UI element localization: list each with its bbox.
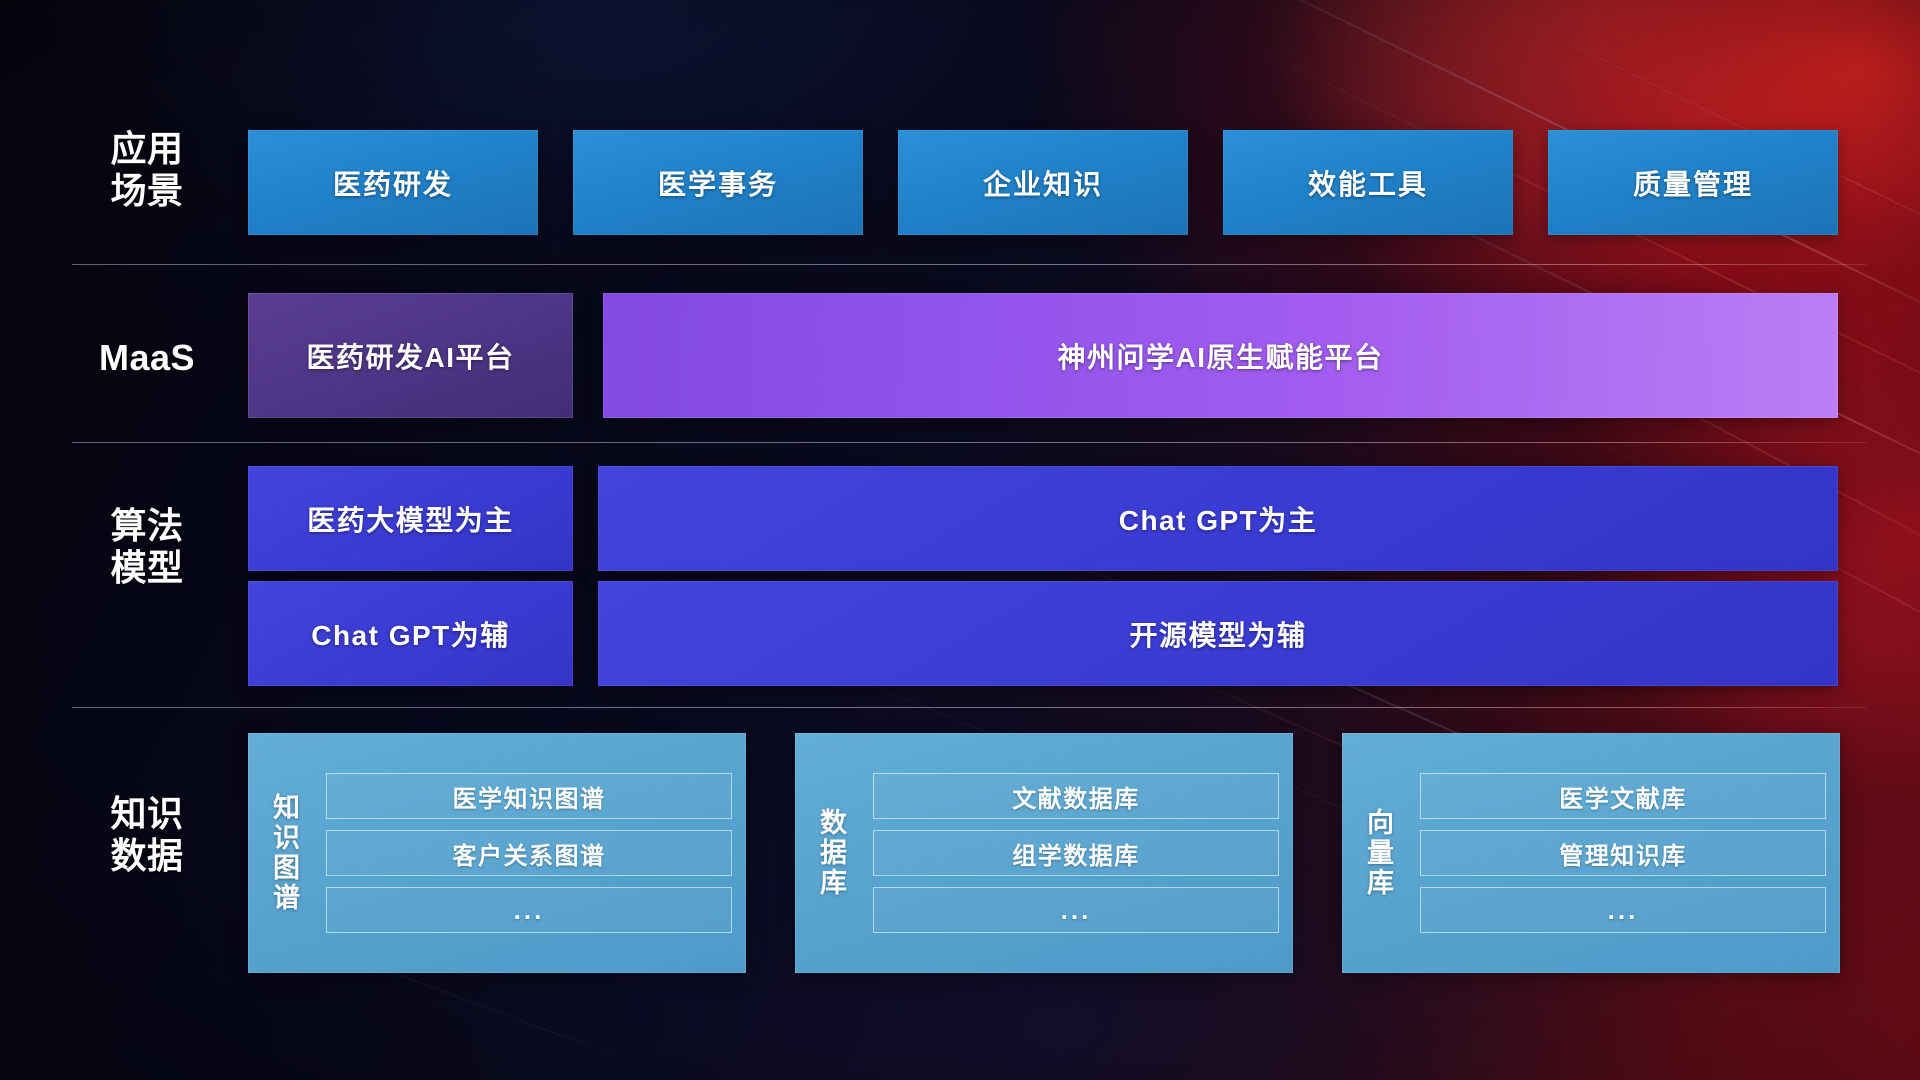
algo-box-right-secondary[interactable]: 开源模型为辅 xyxy=(598,581,1838,686)
row-label-knowledge-data: 知识 数据 xyxy=(72,793,222,877)
algo-label: Chat GPT为辅 xyxy=(311,614,510,654)
row-label-maas: MaaS xyxy=(72,337,222,379)
knowledge-panel-vector-store[interactable]: 向 量 库 医学文献库 管理知识库 ... xyxy=(1342,733,1840,973)
algo-box-left-primary[interactable]: 医药大模型为主 xyxy=(248,466,573,571)
app-scenario-box-2[interactable]: 医学事务 xyxy=(573,130,863,235)
vlabel-char: 向 xyxy=(1352,808,1410,838)
app-scenario-box-1[interactable]: 医药研发 xyxy=(248,130,538,235)
app-scenario-label: 质量管理 xyxy=(1633,163,1753,203)
vlabel-char: 识 xyxy=(258,823,316,853)
row-label-line: 知识 xyxy=(72,793,222,835)
divider-after-algorithm-model xyxy=(72,707,1866,708)
divider-after-application-scenarios xyxy=(72,264,1866,265)
knowledge-item-label: ... xyxy=(1061,895,1092,926)
maas-left-box[interactable]: 医药研发AI平台 xyxy=(248,293,573,418)
row-label-line: 模型 xyxy=(72,547,222,589)
app-scenario-box-4[interactable]: 效能工具 xyxy=(1223,130,1513,235)
vlabel-char: 库 xyxy=(805,868,863,898)
row-label-algorithm-model: 算法 模型 xyxy=(72,505,222,589)
knowledge-item-list: 医学文献库 管理知识库 ... xyxy=(1420,773,1826,933)
knowledge-item-list: 文献数据库 组学数据库 ... xyxy=(873,773,1279,933)
vlabel-char: 量 xyxy=(1352,838,1410,868)
knowledge-item[interactable]: 文献数据库 xyxy=(873,773,1279,819)
knowledge-item-label: 文献数据库 xyxy=(1012,779,1140,814)
vlabel-char: 库 xyxy=(1352,868,1410,898)
vlabel-char: 图 xyxy=(258,853,316,883)
knowledge-item-more[interactable]: ... xyxy=(326,887,732,933)
knowledge-item-list: 医学知识图谱 客户关系图谱 ... xyxy=(326,773,732,933)
vlabel-char: 知 xyxy=(258,793,316,823)
architecture-diagram: 应用 场景 医药研发 医学事务 企业知识 效能工具 质量管理 MaaS 医药研发… xyxy=(0,0,1920,1080)
knowledge-item-label: 组学数据库 xyxy=(1012,836,1140,871)
knowledge-panel-knowledge-graph[interactable]: 知 识 图 谱 医学知识图谱 客户关系图谱 ... xyxy=(248,733,746,973)
maas-platform-bar[interactable]: 神州问学AI原生赋能平台 xyxy=(603,293,1838,418)
row-label-line: 场景 xyxy=(72,170,222,212)
knowledge-item[interactable]: 客户关系图谱 xyxy=(326,830,732,876)
knowledge-item-label: 医学文献库 xyxy=(1559,779,1687,814)
knowledge-item-label: 医学知识图谱 xyxy=(453,779,606,814)
knowledge-item[interactable]: 医学文献库 xyxy=(1420,773,1826,819)
knowledge-item-label: 管理知识库 xyxy=(1559,836,1687,871)
row-label-application-scenarios: 应用 场景 xyxy=(72,128,222,212)
algo-box-left-secondary[interactable]: Chat GPT为辅 xyxy=(248,581,573,686)
algo-box-right-primary[interactable]: Chat GPT为主 xyxy=(598,466,1838,571)
row-label-line: 算法 xyxy=(72,505,222,547)
app-scenario-box-5[interactable]: 质量管理 xyxy=(1548,130,1838,235)
knowledge-item-more[interactable]: ... xyxy=(873,887,1279,933)
knowledge-item-label: 客户关系图谱 xyxy=(453,836,606,871)
knowledge-item-label: ... xyxy=(514,895,545,926)
app-scenario-box-3[interactable]: 企业知识 xyxy=(898,130,1188,235)
app-scenario-label: 医学事务 xyxy=(658,163,778,203)
algo-label: 医药大模型为主 xyxy=(307,499,514,539)
vlabel-char: 谱 xyxy=(258,883,316,913)
knowledge-panel-database[interactable]: 数 据 库 文献数据库 组学数据库 ... xyxy=(795,733,1293,973)
knowledge-item[interactable]: 医学知识图谱 xyxy=(326,773,732,819)
knowledge-item-label: ... xyxy=(1608,895,1639,926)
knowledge-panel-vertical-label: 知 识 图 谱 xyxy=(258,793,316,914)
row-label-line: 数据 xyxy=(72,835,222,877)
maas-platform-label: 神州问学AI原生赋能平台 xyxy=(1057,336,1383,376)
row-label-line: MaaS xyxy=(72,337,222,379)
app-scenario-label: 医药研发 xyxy=(333,163,453,203)
divider-after-maas xyxy=(72,442,1866,443)
vlabel-char: 数 xyxy=(805,808,863,838)
vlabel-char: 据 xyxy=(805,838,863,868)
row-label-line: 应用 xyxy=(72,128,222,170)
knowledge-item[interactable]: 管理知识库 xyxy=(1420,830,1826,876)
knowledge-item[interactable]: 组学数据库 xyxy=(873,830,1279,876)
app-scenario-label: 企业知识 xyxy=(983,163,1103,203)
algo-label: 开源模型为辅 xyxy=(1129,614,1306,654)
app-scenario-label: 效能工具 xyxy=(1308,163,1428,203)
knowledge-panel-vertical-label: 数 据 库 xyxy=(805,808,863,899)
knowledge-panel-vertical-label: 向 量 库 xyxy=(1352,808,1410,899)
maas-left-label: 医药研发AI平台 xyxy=(306,336,514,376)
knowledge-item-more[interactable]: ... xyxy=(1420,887,1826,933)
algo-label: Chat GPT为主 xyxy=(1119,499,1318,539)
